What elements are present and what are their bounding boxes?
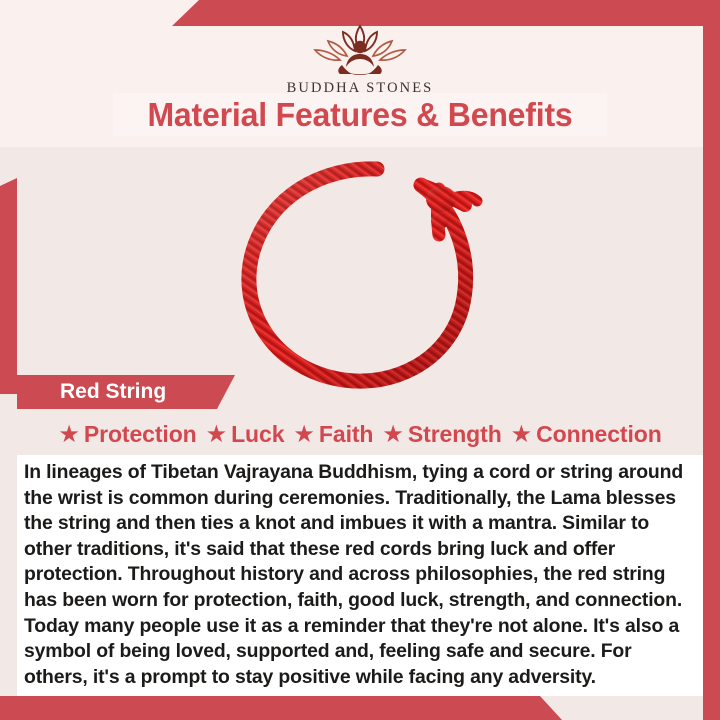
feature-item-luck: ★ Luck [206, 421, 285, 448]
feature-label: Protection [84, 421, 197, 448]
lotus-meditation-icon [298, 22, 422, 78]
star-icon: ★ [293, 423, 315, 447]
feature-label: Strength [408, 421, 502, 448]
feature-label: Luck [231, 421, 284, 448]
star-icon: ★ [206, 423, 228, 447]
page-title: Material Features & Benefits [120, 93, 599, 136]
feature-label: Faith [319, 421, 373, 448]
feature-item-faith: ★ Faith [293, 421, 373, 448]
infographic-page: BUDDHA STONES Material Features & Benefi… [0, 0, 720, 720]
star-icon: ★ [511, 423, 533, 447]
feature-list: ★ Protection ★ Luck ★ Faith ★ Strength ★… [17, 421, 703, 448]
product-label: Red String [60, 375, 166, 409]
decorative-left-bar [0, 178, 17, 394]
decorative-right-bar [703, 26, 720, 720]
decorative-bottom-band [0, 696, 600, 720]
brand-logo: BUDDHA STONES [0, 22, 720, 97]
red-braided-cord-bracelet [225, 155, 510, 395]
star-icon: ★ [382, 423, 404, 447]
feature-item-connection: ★ Connection [511, 421, 662, 448]
feature-label: Connection [536, 421, 662, 448]
star-icon: ★ [58, 423, 80, 447]
feature-item-protection: ★ Protection [58, 421, 196, 448]
feature-item-strength: ★ Strength [382, 421, 501, 448]
description-text: In lineages of Tibetan Vajrayana Buddhis… [24, 460, 696, 690]
